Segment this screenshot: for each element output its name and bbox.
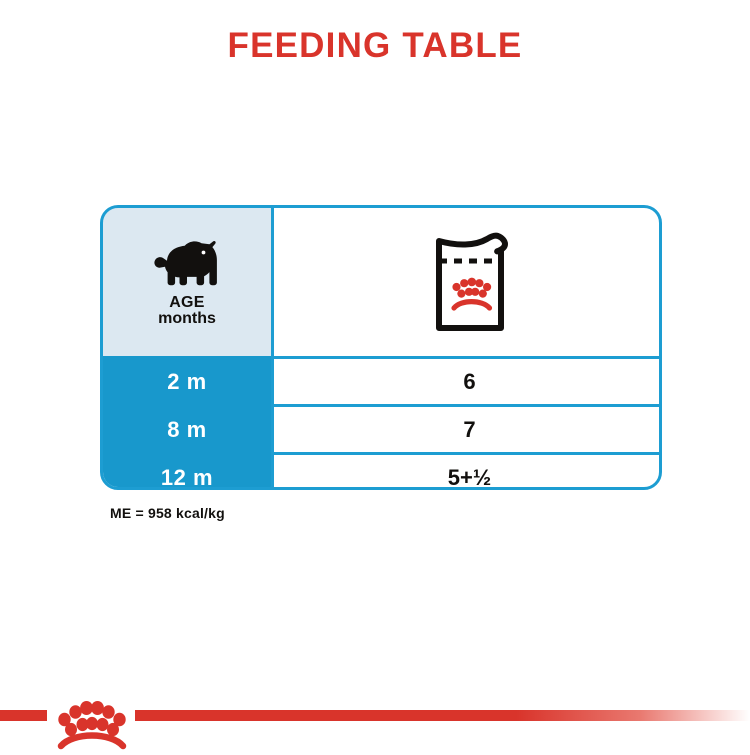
royal-canin-crown-logo-icon [47, 682, 137, 750]
amount-cell: 5+½ [274, 455, 662, 490]
amount-cell: 7 [274, 407, 662, 452]
feeding-table: AGE months [100, 205, 662, 490]
brand-bar [0, 700, 750, 750]
age-header-line2: months [158, 311, 216, 327]
amount-cell: 6 [274, 359, 662, 404]
age-cell: 8 m [103, 407, 271, 452]
table-row[interactable]: 8 m 7 [103, 407, 662, 452]
page-title: FEEDING TABLE [0, 26, 750, 66]
metabolisable-energy-footnote: ME = 958 kcal/kg [110, 505, 225, 521]
age-cell: 2 m [103, 359, 271, 404]
age-header-label: AGE months [158, 295, 216, 328]
brand-bar-right-segment [135, 710, 750, 721]
table-row[interactable]: 2 m 6 [103, 359, 662, 404]
brand-bar-left-segment [0, 710, 47, 721]
food-pouch-icon [427, 230, 513, 334]
age-header-cell: AGE months [103, 208, 271, 356]
table-grid: AGE months [100, 205, 662, 490]
age-header-line1: AGE [158, 295, 216, 311]
table-row[interactable]: 12 m 5+½ [103, 455, 662, 490]
amount-header-cell [274, 208, 662, 356]
puppy-icon [151, 237, 223, 287]
age-cell: 12 m [103, 455, 271, 490]
